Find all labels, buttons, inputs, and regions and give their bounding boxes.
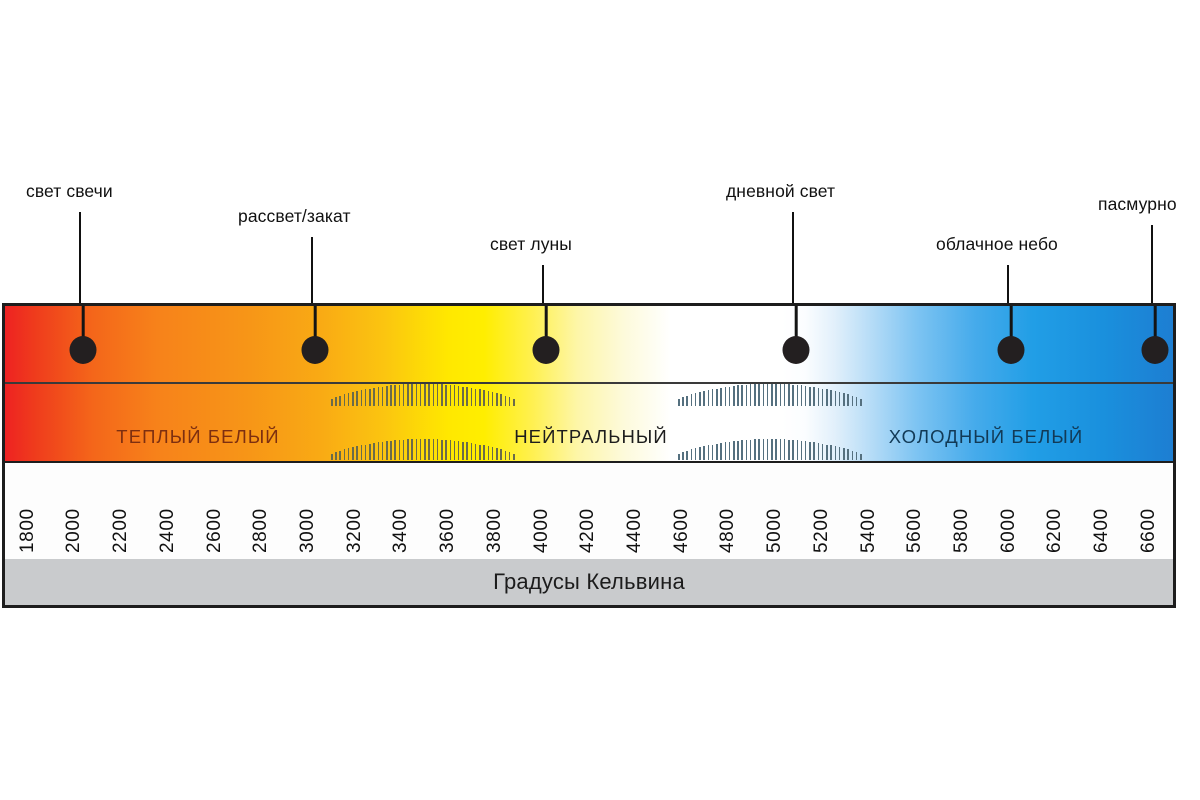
marker-stem-moonlight [545,306,548,338]
ruler-tick [754,439,756,460]
ruler-tick [433,439,435,460]
ruler-tick [462,442,464,460]
ruler-tick [733,441,735,460]
ruler-tick [399,385,401,406]
ruler-tick [420,439,422,460]
ruler-tick [394,385,396,406]
axis-tick-label: 2400 [157,508,179,553]
callout-label-moonlight: свет луны [490,234,572,255]
ruler-tick [450,440,452,460]
axis-tick-label: 5200 [811,508,833,553]
ruler-tick [428,439,430,460]
ruler-tick [483,445,485,460]
ruler-tick [382,442,384,460]
ruler-tick [441,440,443,460]
ruler-tick [691,449,693,460]
axis-tick-label: 2200 [110,508,132,553]
ruler-tick [763,384,765,406]
ruler-tick [369,389,371,406]
marker-dot-cloudy-sky[interactable] [998,336,1025,364]
ruler-tick [712,389,714,405]
ruler-tick [780,439,782,460]
ruler-tick [496,393,498,405]
zone-label-cool-white: ХОЛОДНЫЙ БЕЛЫЙ [889,426,1083,448]
ruler-tick [365,445,367,460]
ruler-tick [339,396,341,406]
ruler-tick [352,447,354,460]
ruler-tick [835,446,837,460]
ruler-tick [750,384,752,405]
ruler-tick [458,441,460,460]
ruler-tick [505,396,507,406]
ruler-tick [830,445,832,460]
marker-stem-sunrise-sunset [314,306,317,338]
ruler-tick [801,441,803,460]
ruler-tick [750,440,752,460]
ruler-tick [348,448,350,460]
ruler-tick [788,384,790,405]
axis-tick-label: 5800 [951,508,973,553]
ruler-tick [445,440,447,460]
ruler-tick [843,393,845,405]
marker-dot-daylight[interactable] [783,336,810,364]
ruler-tick [416,439,418,460]
ruler-tick [678,454,680,460]
callout-label-candle: свет свечи [26,181,113,202]
ruler-tick [805,441,807,460]
ruler-tick [369,444,371,460]
ruler-tick [390,441,392,460]
ruler-tick [741,440,743,460]
ruler-tick [335,452,337,460]
ruler-tick [792,440,794,460]
marker-stem-overcast [1154,306,1157,338]
ruler-tick [788,440,790,460]
ruler-tick [420,384,422,406]
gradient-fill-lower [5,382,1173,461]
ruler-tick [746,440,748,460]
ruler-tick [475,444,477,460]
ruler-tick [847,394,849,405]
band-divider [5,382,1173,384]
kelvin-axis-strip: 1800200022002400260028003000320034003600… [5,461,1173,559]
axis-tick-label: 4200 [577,508,599,553]
ruler-tick [437,384,439,406]
ruler-tick [703,391,705,405]
ruler-tick [847,449,849,460]
ruler-tick [686,451,688,460]
ruler-tick [763,439,765,460]
ruler-tick [462,387,464,406]
ruler-tick [365,389,367,405]
ruler-tick [822,389,824,406]
ruler-tick [496,448,498,460]
axis-tick-label: 3400 [390,508,412,553]
ruler-tick [475,389,477,406]
ruler-tick [488,446,490,460]
ruler-tick [826,445,828,460]
ruler-tick [856,452,858,460]
ruler-tick [390,385,392,405]
axis-tick-label: 2000 [63,508,85,553]
zone-label-warm-white: ТЕПЛЫЙ БЕЛЫЙ [116,426,279,448]
ruler-tick [852,451,854,460]
ruler-tick [471,443,473,460]
ruler-tick [746,385,748,406]
axis-tick-label: 6000 [998,508,1020,553]
axis-tick-label: 4800 [717,508,739,553]
ruler-tick [479,445,481,460]
ruler-tick [331,399,333,406]
ruler-tick [813,387,815,405]
ruler-tick [797,440,799,460]
ruler-tick [492,392,494,405]
ruler-tick [741,385,743,406]
ruler-tick [450,385,452,406]
ruler-tick [509,397,511,405]
ruler-tick [720,443,722,460]
ruler-tick [826,389,828,405]
ruler-tick [852,396,854,406]
ruler-tick [775,439,777,460]
ruler-tick [860,399,862,406]
ruler-tick [445,385,447,406]
axis-tick-label: 2800 [250,508,272,553]
ruler-tick [378,387,380,405]
ruler-tick [725,387,727,405]
ruler-tick [407,384,409,406]
ruler-tick [348,393,350,405]
ruler-tick [686,396,688,406]
marker-stem-candle [82,306,85,338]
ruler-tick [399,440,401,460]
axis-tick-label: 6600 [1138,508,1160,553]
ruler-tick [416,384,418,406]
chart-frame: ТЕПЛЫЙ БЕЛЫЙ НЕЙТРАЛЬНЫЙ ХОЛОДНЫЙ БЕЛЫЙ … [2,303,1176,608]
ruler-tick [729,442,731,460]
ruler-tick [758,439,760,460]
ruler-tick [394,440,396,460]
ruler-tick [428,384,430,406]
marker-dot-moonlight[interactable] [533,336,560,364]
ruler-tick [839,392,841,405]
ruler-tick [695,448,697,460]
axis-tick-label: 3800 [484,508,506,553]
ruler-tick [818,443,820,460]
ruler-tick [835,391,837,405]
marker-dot-sunrise-sunset[interactable] [302,336,329,364]
ruler-tick [492,447,494,460]
ruler-tick [466,387,468,405]
ruler-tick [454,441,456,460]
ruler-tick [488,391,490,405]
axis-tick-label: 2600 [204,508,226,553]
ruler-tick [424,439,426,460]
ruler-tick [839,447,841,460]
ruler-tick [682,452,684,460]
ruler-tick [386,386,388,406]
zone-label-neutral: НЕЙТРАЛЬНЫЙ [514,426,668,448]
axis-tick-label: 6200 [1044,508,1066,553]
axis-tick-label: 5000 [764,508,786,553]
ruler-tick [352,392,354,405]
ruler-tick [818,388,820,406]
ruler-tick [792,385,794,406]
callout-label-sunrise-sunset: рассвет/закат [238,206,351,227]
tick-ruler-lower-right [678,439,862,460]
ruler-tick [479,389,481,405]
axis-tick-label: 5600 [904,508,926,553]
ruler-tick [382,387,384,406]
ruler-tick [720,388,722,406]
ruler-tick [708,445,710,460]
ruler-tick [411,439,413,460]
ruler-tick [513,454,515,460]
ruler-tick [805,386,807,406]
callout-label-cloudy-sky: облачное небо [936,234,1058,255]
ruler-tick [725,442,727,460]
axis-tick-label: 4400 [624,508,646,553]
ruler-tick [754,384,756,406]
ruler-tick [860,454,862,460]
ruler-tick [344,394,346,405]
ruler-tick [767,439,769,460]
ruler-tick [378,442,380,460]
ruler-tick [454,385,456,405]
ruler-tick [703,446,705,460]
ruler-tick [386,441,388,460]
ruler-tick [729,387,731,406]
tick-ruler-lower-left [331,439,515,460]
ruler-tick [339,451,341,460]
ruler-tick [373,443,375,460]
axis-tick-label: 4600 [671,508,693,553]
ruler-tick [737,385,739,405]
ruler-tick [809,442,811,460]
ruler-tick [712,445,714,460]
tick-ruler-upper-left [331,384,515,406]
ruler-tick [403,440,405,460]
ruler-tick [699,392,701,405]
ruler-tick [771,384,773,406]
ruler-tick [784,384,786,406]
ruler-tick [771,439,773,460]
tick-ruler-upper-right [678,384,862,406]
ruler-tick [682,397,684,405]
ruler-tick [335,397,337,405]
ruler-tick [699,447,701,460]
axis-tick-label: 3600 [437,508,459,553]
ruler-tick [458,386,460,406]
ruler-tick [678,399,680,406]
ruler-tick [500,394,502,405]
ruler-tick [403,384,405,405]
ruler-tick [822,444,824,460]
ruler-tick [737,441,739,460]
ruler-tick [361,390,363,405]
ruler-tick [509,452,511,460]
ruler-tick [407,439,409,460]
ruler-tick [708,390,710,405]
ruler-tick [441,384,443,405]
marker-stem-daylight [795,306,798,338]
ruler-tick [373,388,375,406]
ruler-tick [813,442,815,460]
ruler-tick [500,449,502,460]
gradient-band-lower: ТЕПЛЫЙ БЕЛЫЙ НЕЙТРАЛЬНЫЙ ХОЛОДНЫЙ БЕЛЫЙ [5,382,1173,461]
axis-tick-label: 6400 [1091,508,1113,553]
axis-tick-label: 3200 [344,508,366,553]
color-temperature-chart: свет свечи рассвет/закат свет луны дневн… [0,0,1200,800]
ruler-tick [856,397,858,405]
ruler-tick [483,390,485,405]
ruler-tick [471,388,473,406]
ruler-tick [466,442,468,460]
ruler-tick [424,384,426,406]
axis-tick-label: 1800 [17,508,39,553]
ruler-tick [331,454,333,460]
ruler-tick [411,384,413,406]
ruler-tick [691,394,693,405]
ruler-tick [775,384,777,406]
ruler-tick [716,389,718,406]
axis-tick-label: 3000 [297,508,319,553]
ruler-tick [433,384,435,406]
ruler-tick [437,439,439,460]
ruler-tick [505,451,507,460]
callout-label-overcast: пасмурно [1098,194,1177,215]
ruler-tick [758,384,760,406]
ruler-tick [356,391,358,405]
ruler-tick [356,446,358,460]
ruler-tick [733,386,735,406]
ruler-tick [801,385,803,405]
ruler-tick [830,390,832,405]
ruler-tick [344,449,346,460]
callout-label-daylight: дневной свет [726,181,835,202]
marker-stem-cloudy-sky [1010,306,1013,338]
caption-text: Градусы Кельвина [493,569,685,595]
axis-tick-label: 4000 [531,508,553,553]
ruler-tick [809,387,811,406]
ruler-tick [797,385,799,406]
caption-bar: Градусы Кельвина [5,559,1173,605]
ruler-tick [784,439,786,460]
marker-dot-overcast[interactable] [1142,336,1169,364]
axis-tick-label: 5400 [858,508,880,553]
marker-dot-candle[interactable] [70,336,97,364]
ruler-tick [695,393,697,405]
ruler-tick [843,448,845,460]
ruler-tick [767,384,769,406]
ruler-tick [780,384,782,406]
ruler-tick [513,399,515,406]
ruler-tick [361,445,363,460]
ruler-tick [716,444,718,460]
